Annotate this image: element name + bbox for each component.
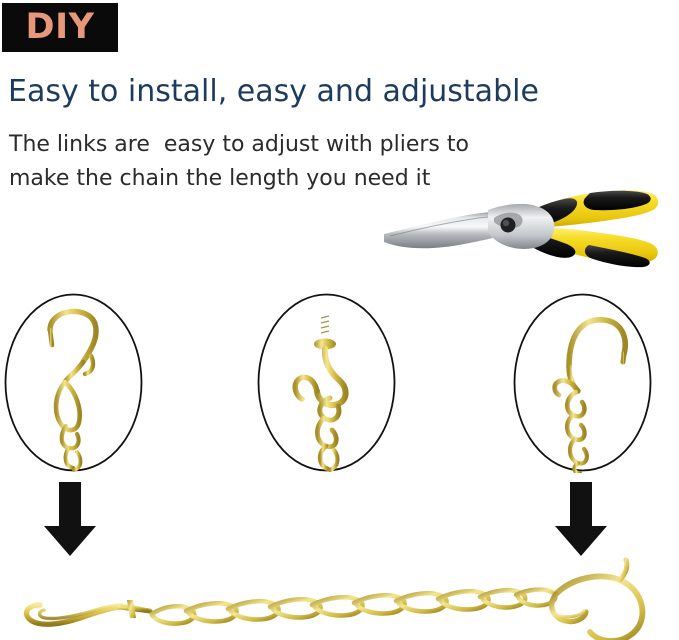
s-hook-mid — [65, 362, 83, 382]
chain-link-3 — [66, 448, 73, 468]
large-hook-tip — [623, 354, 624, 362]
chain-link-2 — [567, 415, 584, 440]
diy-badge-label: DIY — [26, 10, 95, 45]
chain-link-4 — [330, 450, 337, 470]
infographic-page: DIY Easy to install, easy and adjustable… — [0, 0, 679, 640]
chain-link-1 — [567, 392, 584, 416]
s-hook-upper-tail — [50, 330, 52, 345]
chain-link-1 — [56, 382, 80, 430]
callout-s-hook — [3, 292, 144, 473]
down-arrow-icon — [553, 482, 609, 558]
diy-badge: DIY — [2, 3, 118, 52]
s-hook-main-curve — [556, 576, 642, 640]
chain-link-4 — [574, 463, 580, 473]
cup-hook-screw-shank — [321, 312, 329, 340]
s-hook-top-tip — [620, 560, 627, 580]
s-hook-with-chain-art — [3, 292, 144, 473]
chain-link-3 — [570, 439, 587, 464]
down-arrow-icon — [42, 482, 98, 558]
headline: Easy to install, easy and adjustable — [8, 75, 628, 110]
large-hook-curve — [569, 320, 625, 367]
pliers-head — [488, 204, 554, 249]
chain-links — [152, 590, 555, 624]
chain-link-4 — [74, 452, 81, 470]
chain-link-2 — [317, 418, 336, 447]
body-line-1: The links are easy to adjust with pliers… — [9, 128, 479, 162]
pliers-illustration — [368, 172, 668, 282]
callout-large-s-hook — [512, 292, 653, 473]
cup-hook-tip — [295, 377, 317, 399]
callout-cup-hook — [256, 292, 397, 473]
large-s-hook-with-chain-art — [512, 292, 653, 473]
chain-assembly-illustration — [0, 548, 679, 640]
pliers-pivot-highlight — [503, 220, 509, 226]
cup-hook-with-chain-art — [256, 292, 397, 473]
s-hook-upper-curve — [50, 311, 96, 362]
chain-link-3 — [320, 446, 328, 469]
right-s-hook — [552, 560, 643, 640]
s-hook-tail-highlight — [560, 611, 584, 617]
